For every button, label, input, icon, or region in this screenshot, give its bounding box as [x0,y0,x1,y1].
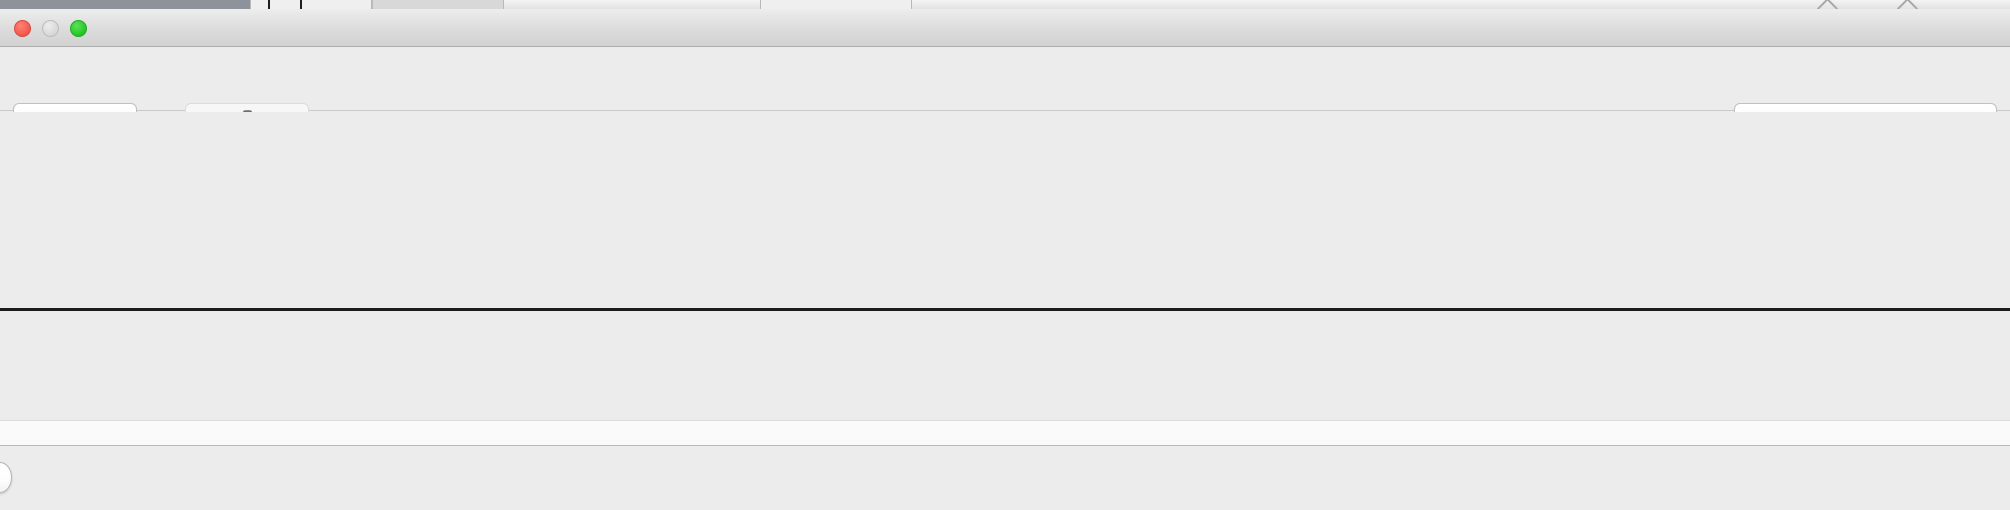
timeline-panel[interactable] [0,112,2010,420]
background-tick [300,0,302,9]
background-tick [268,0,270,9]
timeline-scrollbar[interactable] [0,420,2010,446]
slider-thumb[interactable] [0,462,12,493]
background-window-selection [0,0,250,9]
window-title [0,9,2010,47]
playback-control-bar [0,446,2010,510]
frame-toolbar [0,47,2010,111]
title-bar[interactable] [0,9,2010,47]
timeline-canvas [0,112,2010,420]
background-cell [372,0,504,9]
background-window-strip [0,0,2010,9]
background-cell [760,0,912,9]
timeline-axis [0,308,2010,311]
cyanimator-window [0,0,2010,510]
